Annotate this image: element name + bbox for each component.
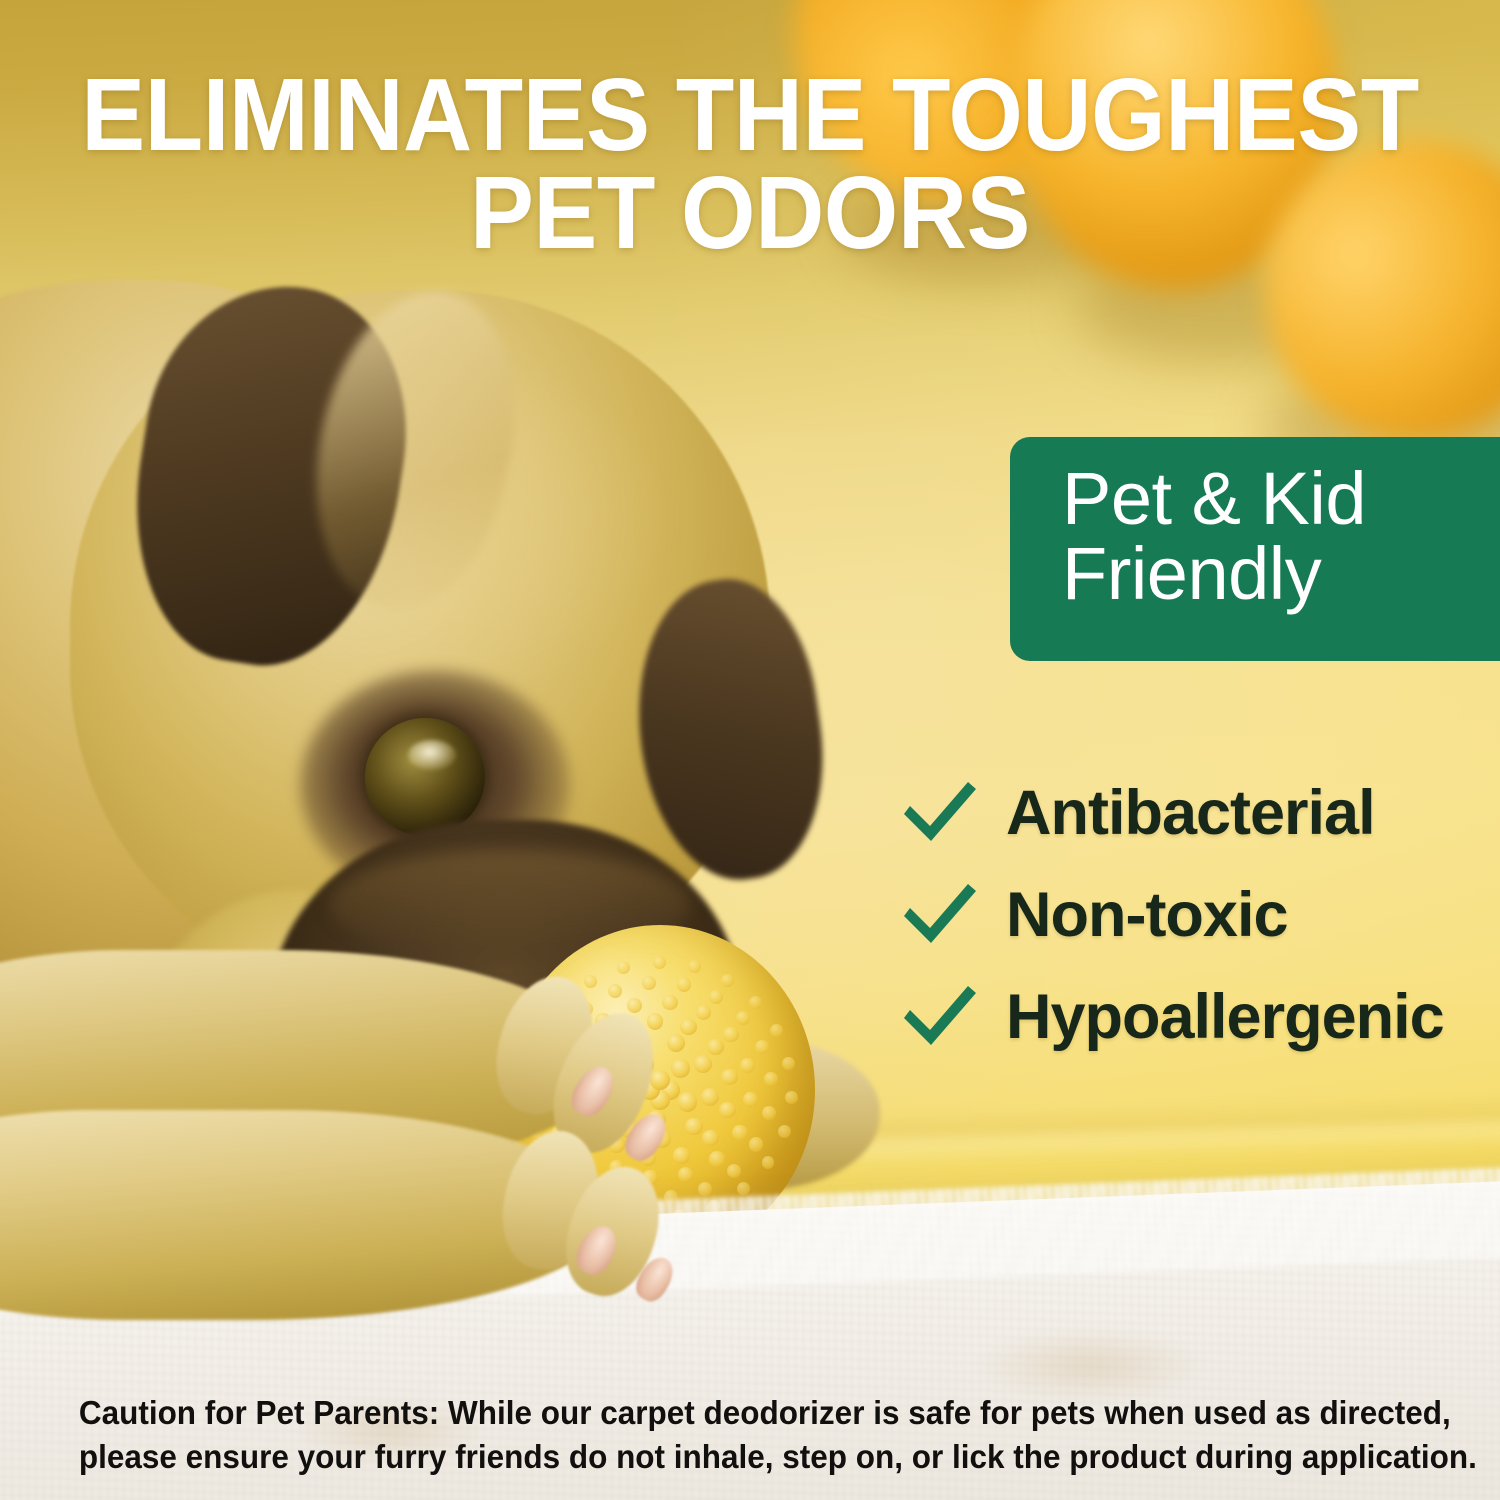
feature-label: Hypoallergenic <box>1006 981 1444 1053</box>
carpet-shading <box>980 1330 1200 1400</box>
headline-line-1: ELIMINATES THE TOUGHEST <box>53 66 1448 164</box>
product-marketing-image: ELIMINATES THE TOUGHEST PET ODORS Pet & … <box>0 0 1500 1500</box>
pug-front-legs <box>0 250 900 1320</box>
pet-kid-friendly-badge: Pet & Kid Friendly <box>1010 437 1500 661</box>
feature-item-antibacterial: Antibacterial <box>900 762 1500 864</box>
check-icon <box>900 780 978 846</box>
caution-text: Caution for Pet Parents: While our carpe… <box>79 1392 1421 1479</box>
caution-line-2: please ensure your furry friends do not … <box>79 1436 1421 1480</box>
feature-list: Antibacterial Non-toxic Hypoallergenic <box>900 762 1500 1068</box>
feature-label: Antibacterial <box>1006 777 1375 849</box>
feature-label: Non-toxic <box>1006 879 1287 951</box>
badge-line-1: Pet & Kid <box>1062 461 1500 536</box>
feature-item-hypoallergenic: Hypoallergenic <box>900 966 1500 1068</box>
headline: ELIMINATES THE TOUGHEST PET ODORS <box>53 66 1448 262</box>
check-icon <box>900 984 978 1050</box>
badge-line-2: Friendly <box>1062 536 1500 611</box>
headline-line-2: PET ODORS <box>53 164 1448 262</box>
feature-item-non-toxic: Non-toxic <box>900 864 1500 966</box>
check-icon <box>900 882 978 948</box>
caution-line-1: Caution for Pet Parents: While our carpe… <box>79 1392 1421 1436</box>
